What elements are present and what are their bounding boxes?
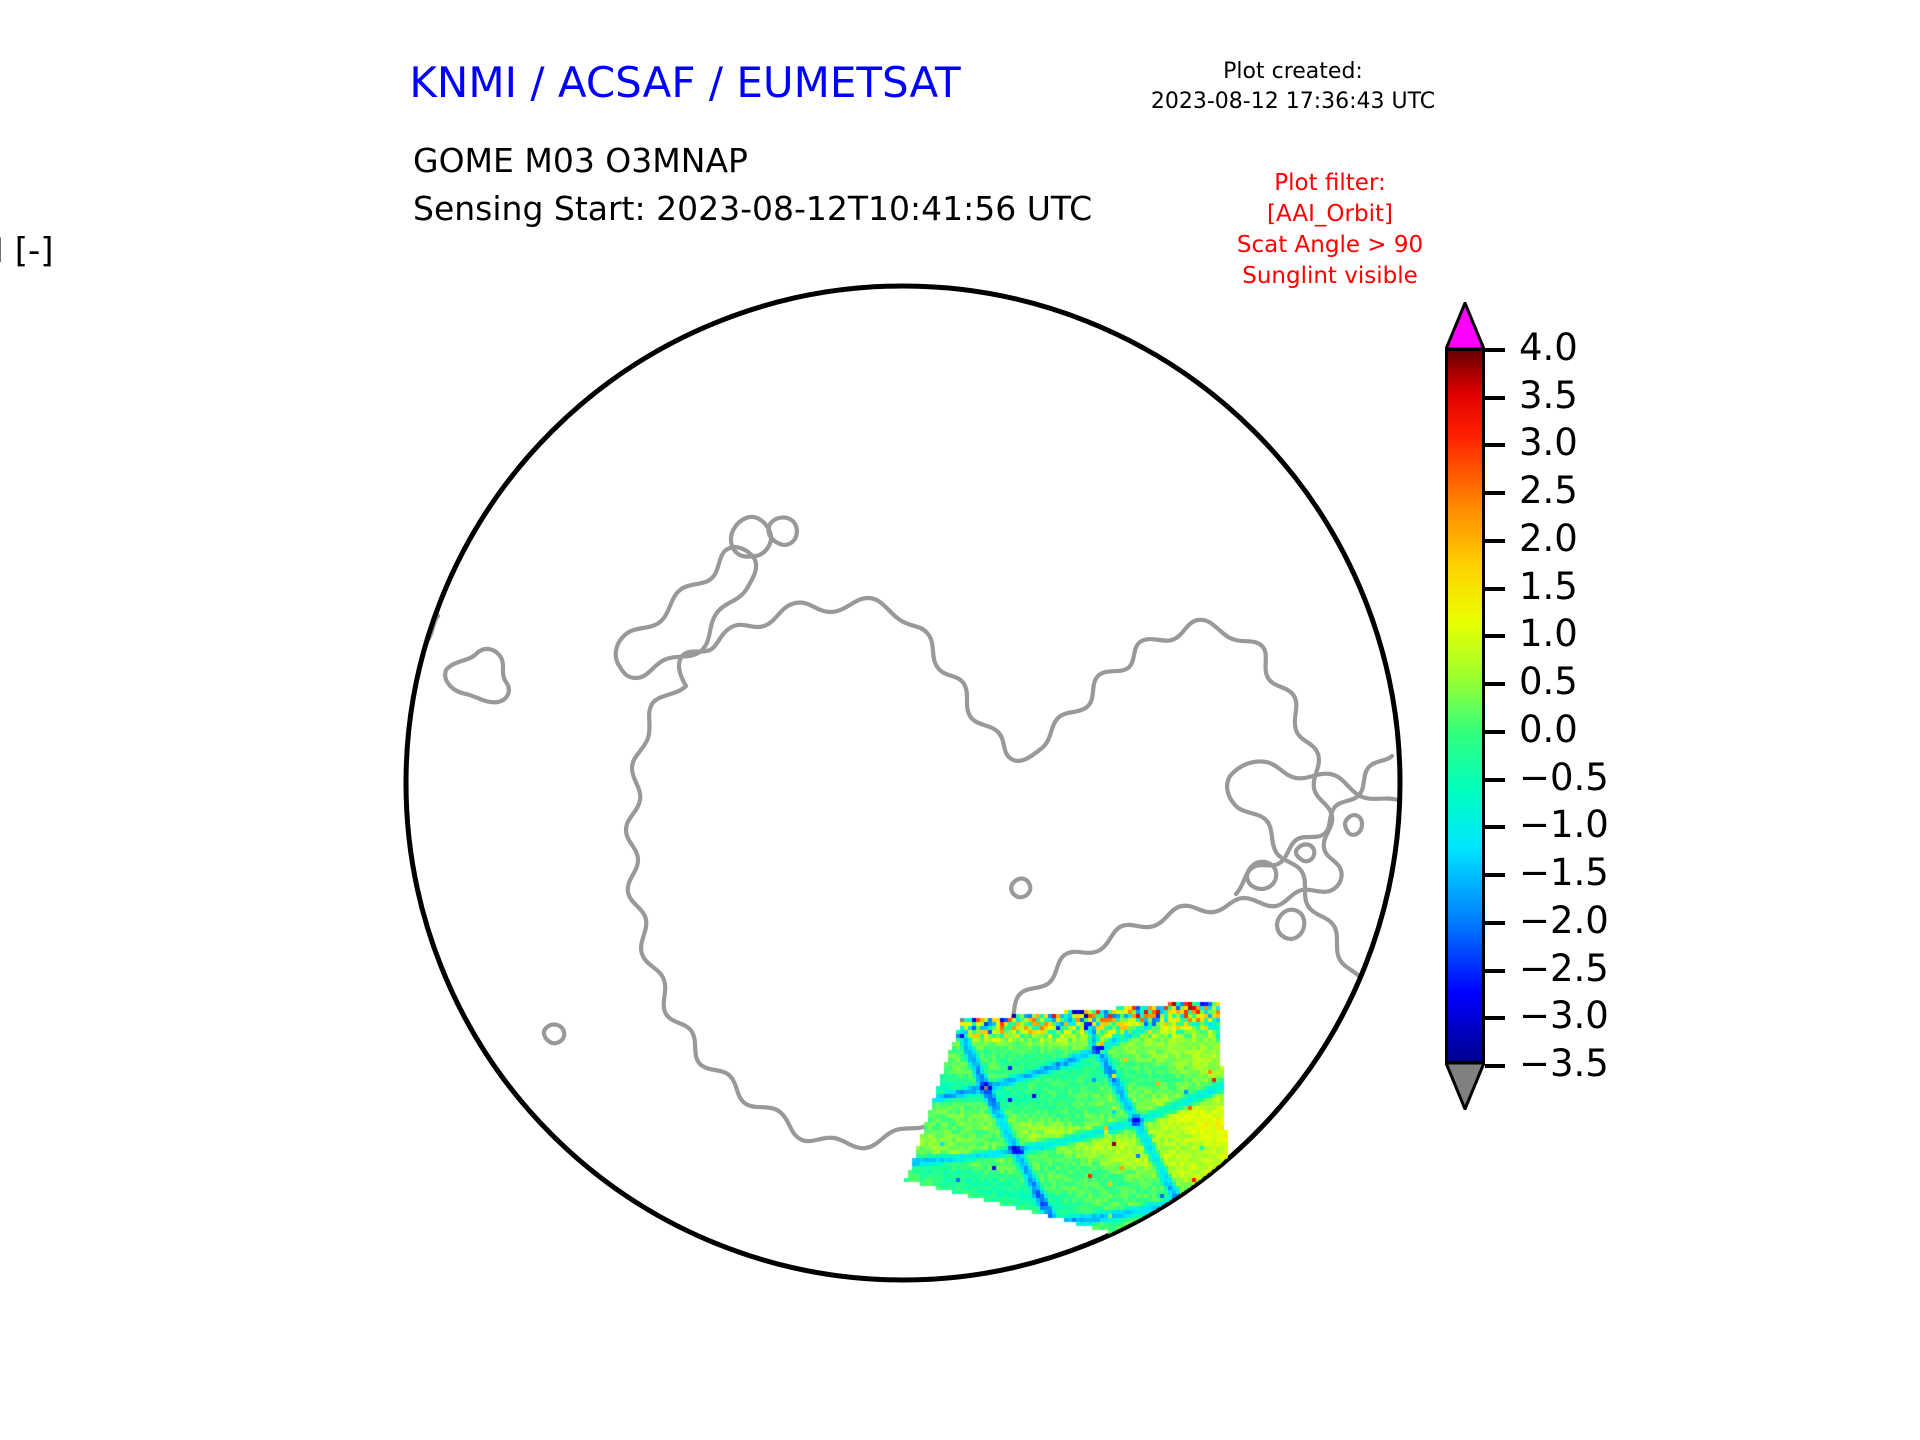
colorbar-tick-mark [1485, 443, 1505, 447]
colorbar-tick-label: −3.5 [1519, 1045, 1609, 1082]
plot-filter-line-2: Scat Angle > 90 [1180, 230, 1480, 261]
colorbar-tick-mark [1485, 396, 1505, 400]
plot-title-text: AAI [-] [0, 231, 54, 271]
colorbar-tick-mark [1485, 873, 1505, 877]
colorbar-tick-label: 4.0 [1519, 329, 1578, 366]
globe-boundary-circle [406, 286, 1400, 1280]
colorbar-tick-label: 2.0 [1519, 520, 1578, 557]
plot-created-block: Plot created: 2023-08-12 17:36:43 UTC [1128, 57, 1458, 117]
colorbar-tick-label: −0.5 [1519, 759, 1609, 796]
coastline-nz-outer-island [768, 517, 796, 544]
colorbar-tick-mark [1485, 921, 1505, 925]
colorbar[interactable]: 4.03.53.02.52.01.51.00.50.0−0.5−1.0−1.5−… [1437, 286, 1857, 1306]
colorbar-over-arrow [1445, 302, 1485, 350]
colorbar-tick-label: 1.0 [1519, 615, 1578, 652]
plot-created-timestamp: 2023-08-12 17:36:43 UTC [1128, 87, 1458, 117]
colorbar-tick-mark [1485, 825, 1505, 829]
colorbar-tick-mark [1485, 587, 1505, 591]
colorbar-tick-mark [1485, 348, 1505, 352]
coastline-islet-south [1011, 879, 1030, 898]
colorbar-tick-mark [1485, 1064, 1505, 1068]
colorbar-tick-mark [1485, 491, 1505, 495]
coastline-peninsula-island-c [1345, 815, 1362, 835]
colorbar-tick-label: 3.0 [1519, 424, 1578, 461]
sensing-start-line: Sensing Start: 2023-08-12T10:41:56 UTC [413, 185, 1092, 233]
metadata-block: GOME M03 O3MNAP Sensing Start: 2023-08-1… [413, 137, 1092, 233]
coastline-islet-west [544, 1025, 564, 1044]
colorbar-tick-label: 1.5 [1519, 568, 1578, 605]
coastline-new-zealand-south [616, 547, 756, 678]
coastline-south-america [1230, 762, 1408, 852]
coastline-new-zealand-north [731, 517, 771, 557]
colorbar-tick-label: −3.0 [1519, 997, 1609, 1034]
colorbar-tick-label: 0.0 [1519, 711, 1578, 748]
plot-created-label: Plot created: [1128, 57, 1458, 87]
map-svg [398, 278, 1408, 1288]
colorbar-tick-label: 3.5 [1519, 377, 1578, 414]
coastline-peninsula-island-a [1296, 844, 1314, 861]
colorbar-under-arrow [1445, 1062, 1485, 1110]
colorbar-tick-mark [1485, 730, 1505, 734]
plot-filter-line-1: [AAI_Orbit] [1180, 199, 1480, 230]
coastline-peninsula-island-b [1277, 910, 1304, 939]
colorbar-tick-label: −2.0 [1519, 902, 1609, 939]
colorbar-tick-label: −2.5 [1519, 950, 1609, 987]
colorbar-tick-mark [1485, 539, 1505, 543]
colorbar-tick-mark [1485, 969, 1505, 973]
polar-map [398, 278, 1408, 1288]
colorbar-tick-mark [1485, 682, 1505, 686]
coastline-antarctica [626, 598, 1342, 1148]
colorbar-tick-label: −1.5 [1519, 854, 1609, 891]
colorbar-tick-label: 0.5 [1519, 663, 1578, 700]
plot-filter-line-0: Plot filter: [1180, 168, 1480, 199]
colorbar-tick-label: 2.5 [1519, 472, 1578, 509]
instrument-product-line: GOME M03 O3MNAP [413, 137, 1092, 185]
colorbar-tick-label: −1.0 [1519, 806, 1609, 843]
colorbar-tick-mark [1485, 1016, 1505, 1020]
colorbar-tick-mark [1485, 634, 1505, 638]
coastline-subantarctic-island [445, 649, 509, 702]
colorbar-gradient[interactable] [1445, 348, 1485, 1064]
coastlines-group [398, 517, 1408, 1148]
plot-filter-block: Plot filter: [AAI_Orbit] Scat Angle > 90… [1180, 168, 1480, 292]
colorbar-tick-mark [1485, 778, 1505, 782]
plot-title: AAI [-] [0, 231, 1860, 271]
